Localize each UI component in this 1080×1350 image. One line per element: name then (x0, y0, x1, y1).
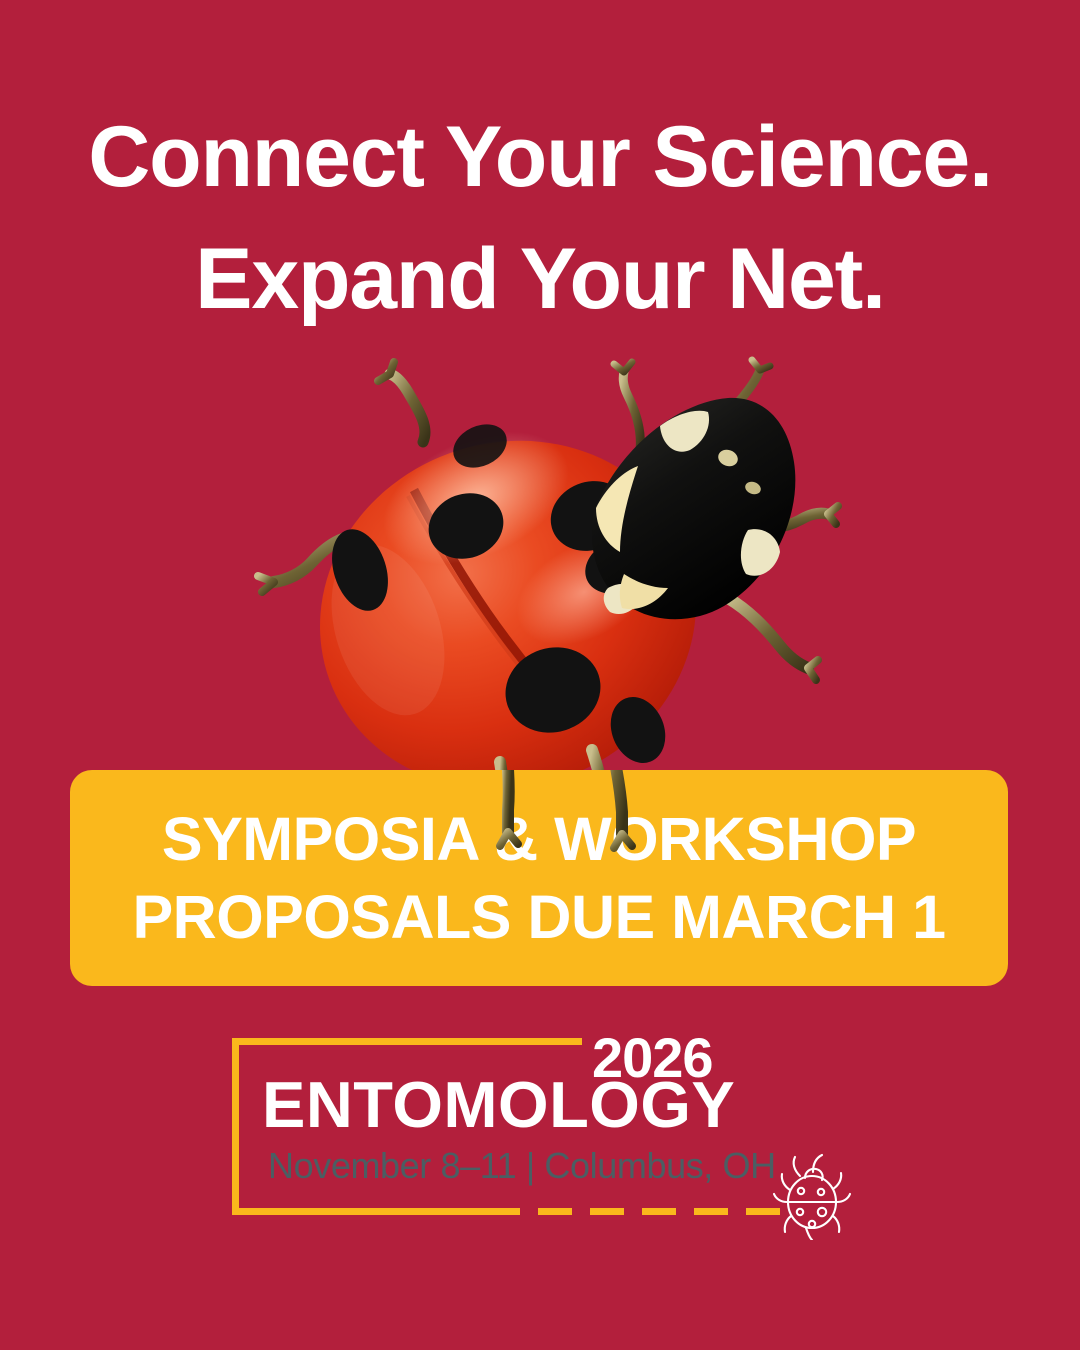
logo-bracket-dash (590, 1208, 624, 1215)
logo-bracket-dash (694, 1208, 728, 1215)
logo-bracket-dash (642, 1208, 676, 1215)
logo-bracket-top (232, 1038, 582, 1045)
entomology-logo: 2026 ENTOMOLOGY November 8–11 | Columbus… (232, 1030, 852, 1230)
cta-line-2: PROPOSALS DUE MARCH 1 (132, 878, 945, 956)
logo-bracket-left (232, 1038, 239, 1215)
headline-line-1: Connect Your Science. (0, 96, 1080, 218)
cta-banner[interactable]: SYMPOSIA & WORKSHOP PROPOSALS DUE MARCH … (70, 770, 1008, 986)
logo-bracket-dash (538, 1208, 572, 1215)
poster-canvas: Connect Your Science. Expand Your Net. (0, 0, 1080, 1350)
logo-subtitle: November 8–11 | Columbus, OH (268, 1148, 776, 1184)
ladybug-photo (208, 330, 848, 830)
logo-bracket-bottom (232, 1208, 520, 1215)
cta-line-1: SYMPOSIA & WORKSHOP (162, 800, 916, 878)
ladybug-outline-icon (772, 1150, 854, 1240)
ladybug-head (592, 398, 796, 619)
logo-wordmark: ENTOMOLOGY (262, 1072, 735, 1137)
headline-line-2: Expand Your Net. (0, 218, 1080, 340)
ladybug-illustration (208, 330, 848, 830)
page-title: Connect Your Science. Expand Your Net. (0, 96, 1080, 340)
